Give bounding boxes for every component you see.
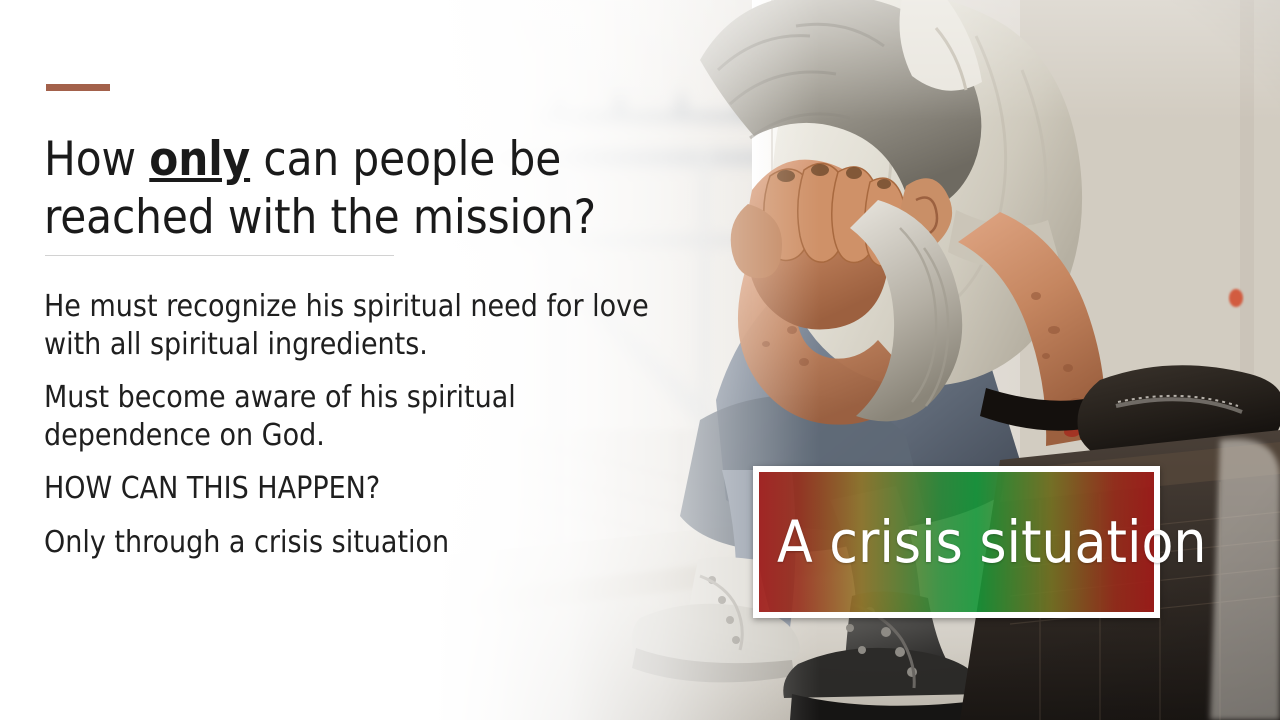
accent-bar <box>46 84 110 91</box>
title-divider <box>45 255 394 256</box>
body-text-block: He must recognize his spiritual need for… <box>44 288 684 576</box>
callout-box: A crisis situation <box>753 466 1160 618</box>
title-prefix: How <box>44 132 149 187</box>
title-line-2: with the mission? <box>228 190 596 245</box>
body-paragraph: Must become aware of his spiritual depen… <box>44 379 684 456</box>
body-paragraph: Only through a crisis situation <box>44 524 684 562</box>
title-emphasis: only <box>149 132 250 187</box>
page-title: How only can people be reached with the … <box>44 131 724 246</box>
slide-canvas: How only can people be reached with the … <box>0 0 1280 720</box>
callout-label: A crisis situation <box>759 513 1206 571</box>
body-paragraph: He must recognize his spiritual need for… <box>44 288 684 365</box>
body-paragraph: HOW CAN THIS HAPPEN? <box>44 470 684 508</box>
